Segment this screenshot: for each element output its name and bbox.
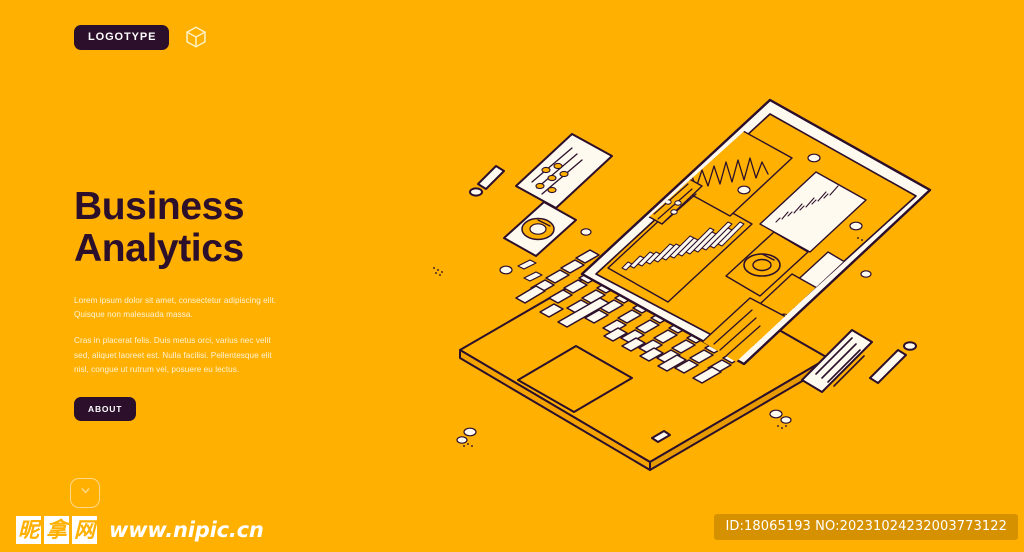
hero-paragraph-1: Lorem ipsum dolor sit amet, consectetur …	[74, 294, 282, 322]
site-header: LOGOTYPE	[74, 24, 209, 50]
image-id-bar: ID:18065193 NO:20231024232003773122	[714, 514, 1018, 540]
hero-paragraph-2: Cras in placerat felis. Duis metus orci,…	[74, 334, 282, 376]
chevron-down-icon	[79, 484, 92, 502]
watermark-url: www.nipic.cn	[109, 518, 264, 542]
hero-section: Business Analytics Lorem ipsum dolor sit…	[74, 186, 314, 421]
watermark: 昵 拿 网 www.nipic.cn	[16, 516, 264, 544]
analytics-illustration	[400, 62, 960, 482]
small-chips	[500, 260, 542, 281]
cube-icon	[183, 24, 209, 50]
gauge-dial-panel	[504, 202, 576, 256]
watermark-char-1: 昵	[16, 516, 41, 544]
scroll-down-button[interactable]	[70, 478, 100, 508]
watermark-char-2: 拿	[44, 516, 69, 544]
floating-pill-left	[470, 166, 504, 196]
floating-pill-right	[870, 342, 916, 383]
settings-float-panel	[516, 134, 612, 208]
logotype-badge[interactable]: LOGOTYPE	[74, 25, 169, 50]
landing-page: LOGOTYPE Business Analytics Lorem ipsum …	[0, 0, 1024, 552]
page-title: Business Analytics	[74, 186, 314, 270]
watermark-char-3: 网	[72, 516, 97, 544]
about-button[interactable]: ABOUT	[74, 397, 136, 422]
watermark-brand: 昵 拿 网	[16, 516, 97, 544]
